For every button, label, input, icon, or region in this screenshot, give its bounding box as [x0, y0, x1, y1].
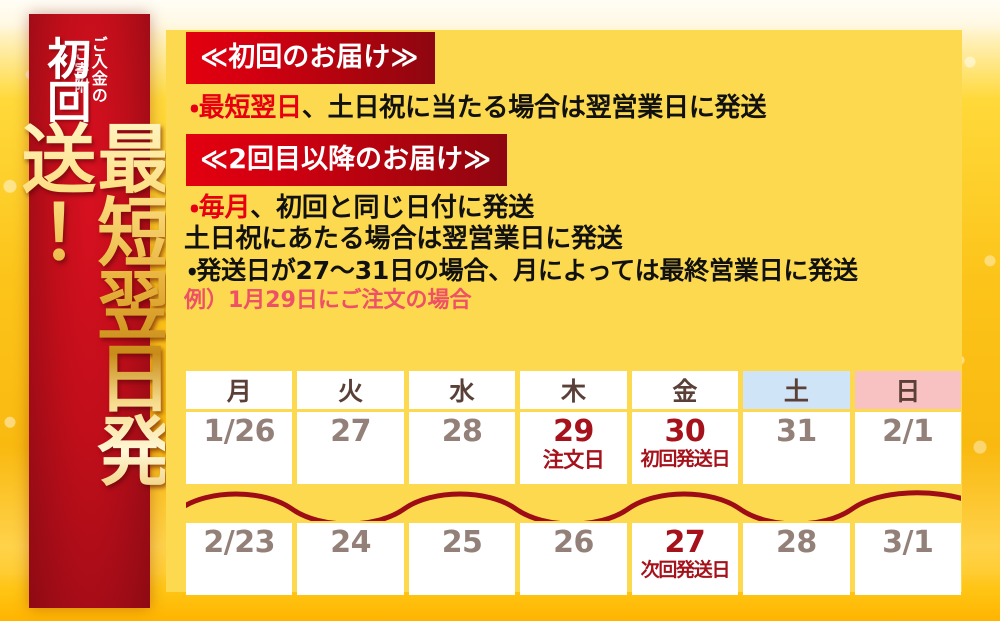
- calendar-date: 27: [330, 416, 371, 448]
- calendar-weekday-header: 月 火 水 木 金 土 日: [186, 371, 961, 409]
- calendar-cell: 24: [297, 523, 403, 595]
- calendar-cell: 28: [743, 523, 849, 595]
- wavy-divider: [186, 487, 961, 521]
- calendar-date: 30: [665, 416, 706, 448]
- section-2-line-3: ・発送日が27〜31日の場合、月によっては最終営業日に発送: [188, 257, 962, 286]
- top-haze-overlay: [0, 0, 1000, 34]
- weekday-mon: 月: [186, 371, 292, 409]
- calendar-date: 28: [776, 527, 817, 559]
- calendar-date: 27: [665, 527, 706, 559]
- calendar-cell: 27: [297, 412, 403, 484]
- calendar-date: 2/23: [203, 527, 275, 559]
- weekday-fri: 金: [632, 371, 738, 409]
- weekday-tue: 火: [297, 371, 403, 409]
- calendar-date: 2/1: [882, 416, 933, 448]
- calendar-cell: 1/26: [186, 412, 292, 484]
- section-1-badge: ≪初回のお届け≫: [186, 32, 435, 84]
- calendar-date-tag: 次回発送日: [641, 560, 730, 581]
- banner-headline: 最短翌日発送！: [14, 120, 166, 608]
- kicker-line-2: ご入金の: [89, 36, 105, 104]
- calendar-date: 1/26: [203, 416, 275, 448]
- calendar-date-tag: 注文日: [543, 449, 605, 472]
- calendar-date: 24: [330, 527, 371, 559]
- promo-banner: ご入金の ご寄附 初回 最短翌日発送！ ≪初回のお届け≫ ・最短翌日、土日祝に当…: [0, 0, 1000, 621]
- weekday-sun: 日: [855, 371, 961, 409]
- calendar-date: 26: [553, 527, 594, 559]
- weekday-sat: 土: [743, 371, 849, 409]
- calendar-cell: 31: [743, 412, 849, 484]
- section-2-line-1: ・毎月、初回と同じ日付に発送: [190, 194, 962, 224]
- calendar-cell: 28: [409, 412, 515, 484]
- calendar-cell: 30初回発送日: [632, 412, 738, 484]
- calendar-date: 3/1: [882, 527, 933, 559]
- calendar-cell: 2/23: [186, 523, 292, 595]
- calendar-cell: 2/1: [855, 412, 961, 484]
- calendar-cell: 29注文日: [520, 412, 626, 484]
- section-2-badge: ≪2回目以降のお届け≫: [186, 134, 507, 186]
- calendar-date: 29: [553, 416, 594, 448]
- section-2-line-1-rest: 、初回と同じ日付に発送: [250, 193, 534, 223]
- calendar-cell: 25: [409, 523, 515, 595]
- calendar: 月 火 水 木 金 土 日 1/26272829注文日30初回発送日312/1 …: [186, 371, 961, 595]
- weekday-wed: 水: [409, 371, 515, 409]
- calendar-cell: 3/1: [855, 523, 961, 595]
- calendar-date: 31: [776, 416, 817, 448]
- calendar-week-2: 2/2324252627次回発送日283/1: [186, 523, 961, 595]
- section-1-line-1: ・最短翌日、土日祝に当たる場合は翌営業日に発送: [190, 94, 962, 124]
- calendar-cell: 26: [520, 523, 626, 595]
- kicker-main-text: 初回: [43, 36, 85, 122]
- section-2-line-1-emphasis: ・毎月: [190, 193, 250, 223]
- section-1-line-1-rest: 、土日祝に当たる場合は翌営業日に発送: [302, 93, 766, 123]
- calendar-date-tag: 初回発送日: [641, 449, 730, 470]
- weekday-thu: 木: [520, 371, 626, 409]
- vertical-red-banner: ご入金の ご寄附 初回 最短翌日発送！: [29, 14, 150, 608]
- calendar-date: 25: [442, 527, 483, 559]
- calendar-date: 28: [442, 416, 483, 448]
- example-note: 例）1月29日にご注文の場合: [184, 289, 962, 313]
- calendar-cell: 27次回発送日: [632, 523, 738, 595]
- section-2-line-2: 土日祝にあたる場合は翌営業日に発送: [184, 225, 962, 255]
- section-1-line-1-emphasis: ・最短翌日: [190, 93, 302, 123]
- calendar-week-1: 1/26272829注文日30初回発送日312/1: [186, 412, 961, 484]
